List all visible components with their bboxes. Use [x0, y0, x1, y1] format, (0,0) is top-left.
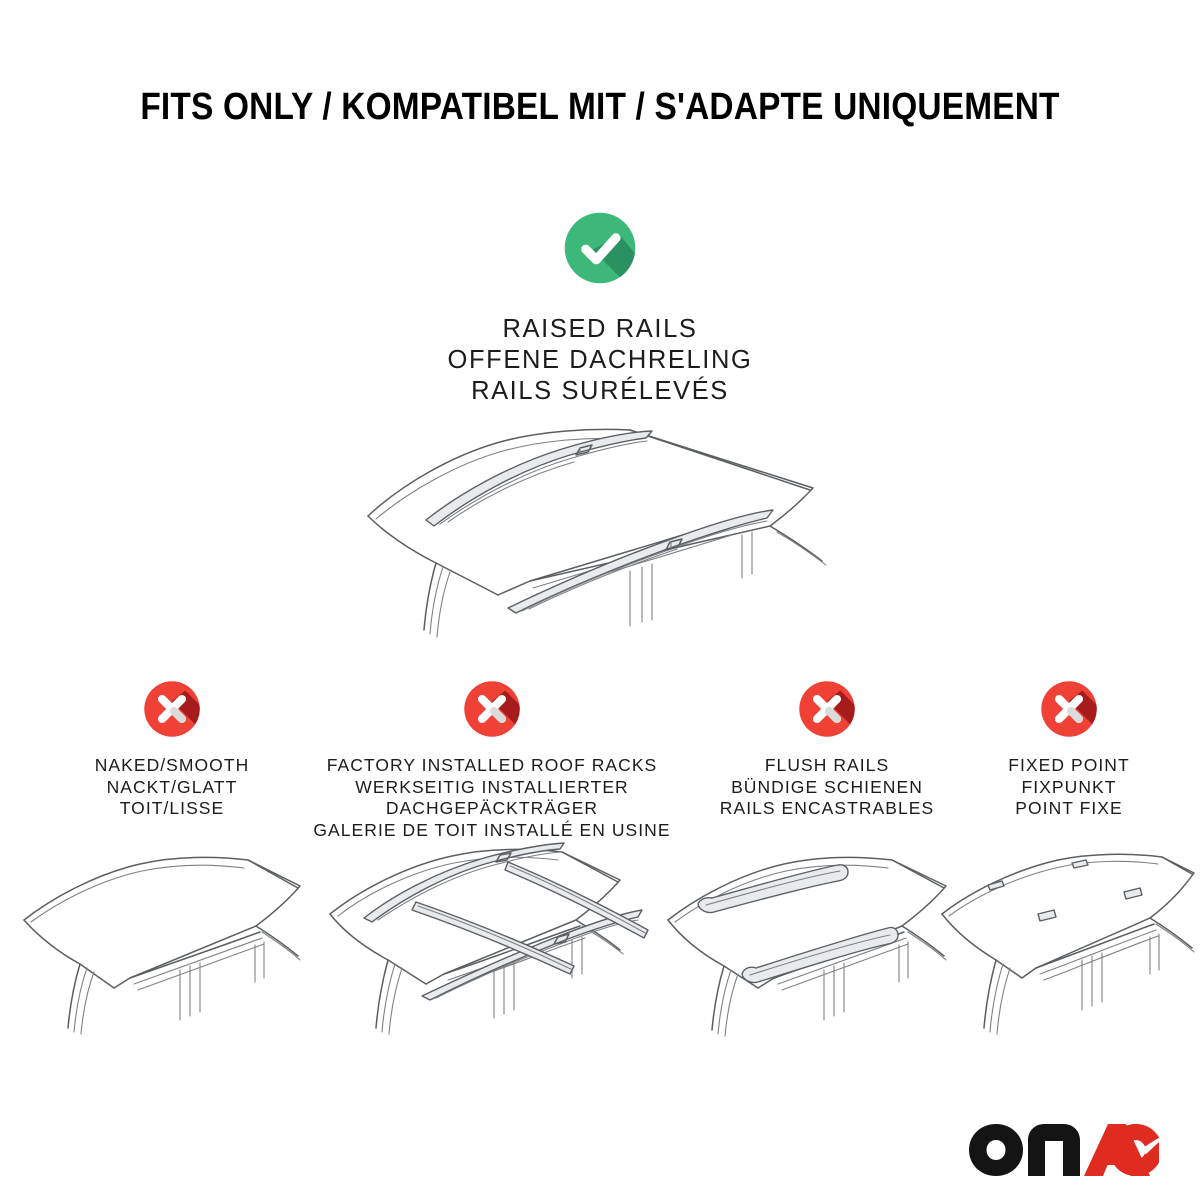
bare-roof-illustration [10, 848, 310, 1053]
label-line-en: FIXED POINT [958, 755, 1180, 777]
label-line-de: FIXPUNKT [958, 777, 1180, 799]
label-line-fr: TOIT/LISSE [22, 798, 322, 820]
incompatible-label-naked-smooth: NAKED/SMOOTH NACKT/GLATT TOIT/LISSE [22, 755, 322, 820]
incompatible-type-naked-smooth: NAKED/SMOOTH NACKT/GLATT TOIT/LISSE [22, 676, 322, 820]
compatible-label-line-en: RAISED RAILS [0, 314, 1200, 345]
incompatible-label-fixed-point: FIXED POINT FIXPUNKT POINT FIXE [958, 755, 1180, 820]
label-line-en: NAKED/SMOOTH [22, 755, 322, 777]
raised-rails-roof-illustration [330, 398, 870, 668]
incompatible-type-fixed-point: FIXED POINT FIXPUNKT POINT FIXE [958, 676, 1180, 820]
flush-rails-roof-illustration [652, 850, 962, 1050]
incompatible-label-flush-rails: FLUSH RAILS BÜNDIGE SCHIENEN RAILS ENCAS… [682, 755, 972, 820]
brand-logo-omac [968, 1122, 1160, 1178]
label-line-de-2: DACHGEPÄCKTRÄGER [312, 798, 672, 820]
label-line-fr: RAILS ENCASTRABLES [682, 798, 972, 820]
label-line-de: NACKT/GLATT [22, 777, 322, 799]
incompatible-type-flush-rails: FLUSH RAILS BÜNDIGE SCHIENEN RAILS ENCAS… [682, 676, 972, 820]
x-circle-icon [794, 676, 860, 742]
x-circle-icon [1036, 676, 1102, 742]
compatible-type-label: RAISED RAILS OFFENE DACHRELING RAILS SUR… [0, 314, 1200, 407]
label-line-en: FACTORY INSTALLED ROOF RACKS [312, 755, 672, 777]
incompatible-label-factory-racks: FACTORY INSTALLED ROOF RACKS WERKSEITIG … [312, 755, 672, 841]
omac-logo-icon [968, 1122, 1160, 1178]
incompatible-type-factory-racks: FACTORY INSTALLED ROOF RACKS WERKSEITIG … [312, 676, 672, 841]
compatible-label-line-de: OFFENE DACHRELING [0, 345, 1200, 376]
compatible-type-block: RAISED RAILS OFFENE DACHRELING RAILS SUR… [0, 206, 1200, 407]
label-line-de-1: WERKSEITIG INSTALLIERTER [312, 777, 672, 799]
label-line-en: FLUSH RAILS [682, 755, 972, 777]
fixed-point-roof-illustration [930, 850, 1200, 1050]
x-circle-icon [139, 676, 205, 742]
page-title: FITS ONLY / KOMPATIBEL MIT / S'ADAPTE UN… [72, 86, 1128, 129]
label-line-fr: POINT FIXE [958, 798, 1180, 820]
check-circle-icon [558, 206, 642, 290]
label-line-de: BÜNDIGE SCHIENEN [682, 777, 972, 799]
factory-crossbar-roof-illustration [308, 836, 678, 1051]
x-circle-icon [459, 676, 525, 742]
